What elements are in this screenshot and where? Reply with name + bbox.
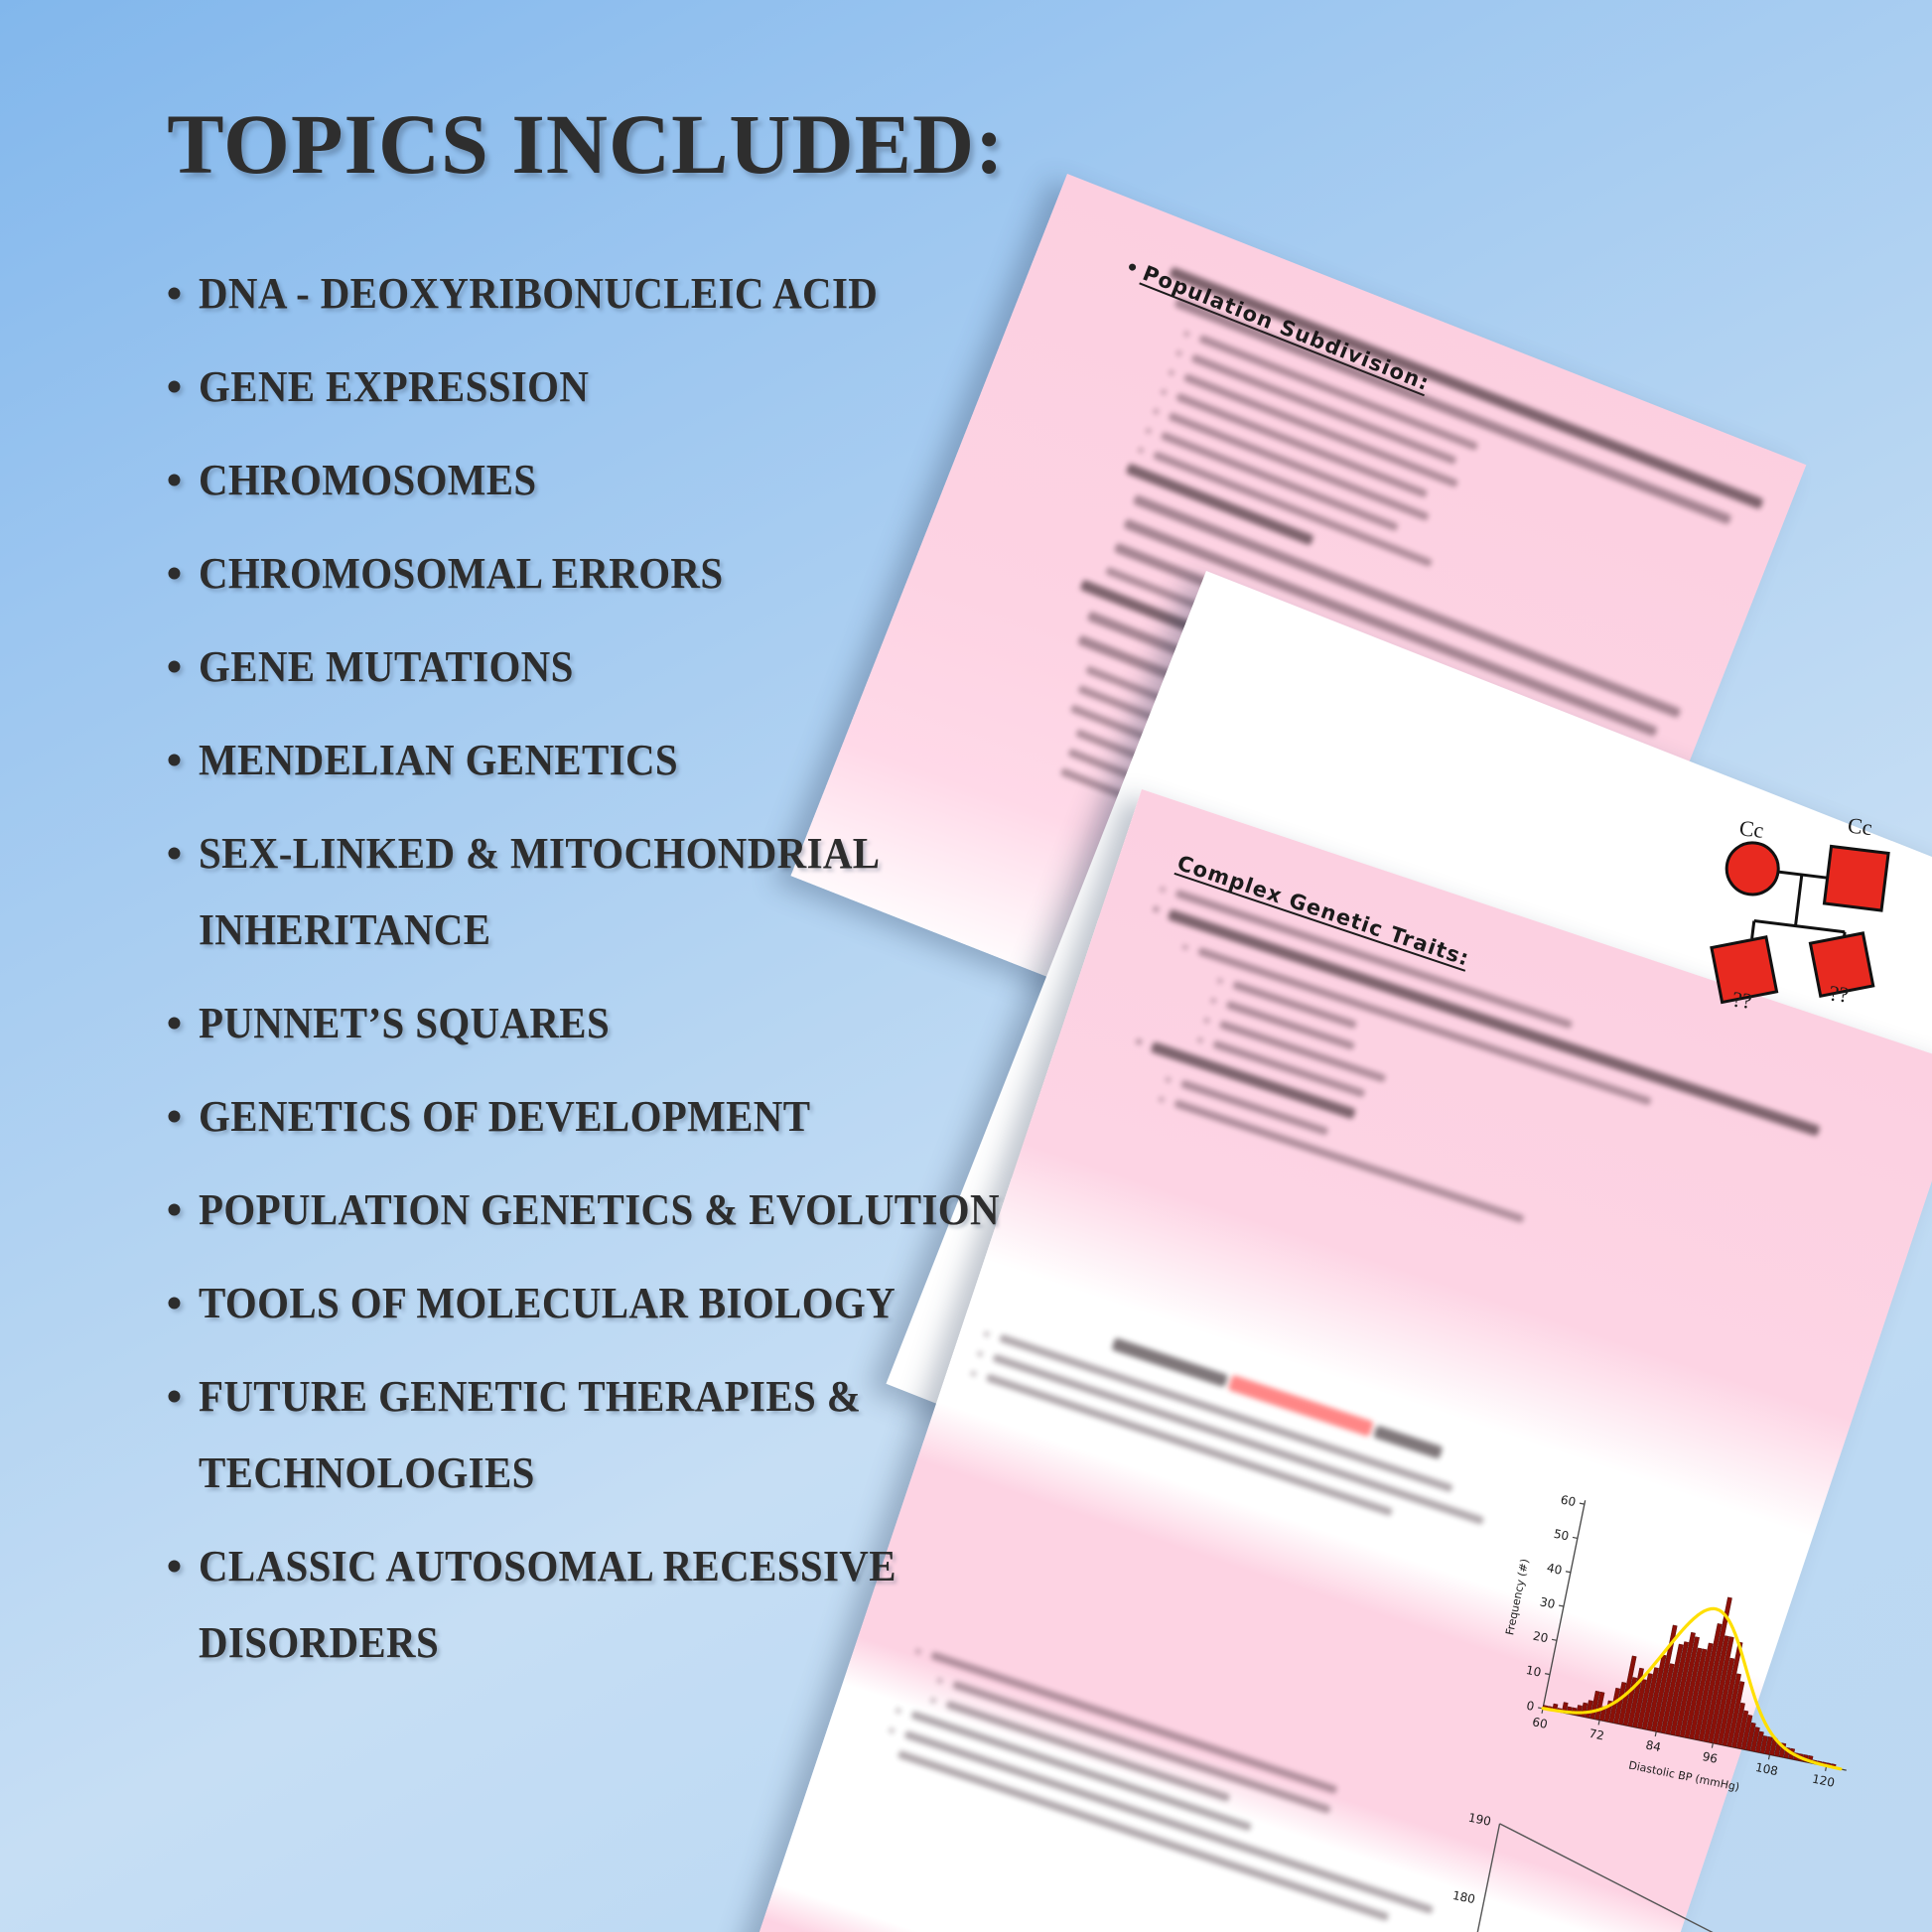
topic-label: CLASSIC AUTOSOMAL RECESSIVE DISORDERS	[199, 1542, 897, 1667]
bullet-icon: •	[167, 1172, 183, 1248]
histogram-ytick: 60	[1560, 1492, 1578, 1509]
topic-label: CHROMOSOMES	[199, 456, 537, 504]
topic-item: •GENE MUTATIONS	[199, 628, 1038, 705]
pedigree-diagram: Cc Cc ?? ??	[1696, 795, 1932, 1037]
histogram-ylabel: Frequency (#)	[1503, 1558, 1531, 1636]
topic-item: •CHROMOSOMAL ERRORS	[199, 535, 1038, 612]
pedigree-label-child-one: ??	[1730, 987, 1753, 1015]
topic-label: TOOLS OF MOLECULAR BIOLOGY	[199, 1279, 896, 1327]
histogram-ytick: 40	[1546, 1561, 1564, 1578]
topic-item: •PUNNET’S SQUARES	[199, 985, 1038, 1061]
topic-label: DNA - DEOXYRIBONUCLEIC ACID	[199, 269, 878, 318]
histogram-xtick: 72	[1587, 1726, 1605, 1743]
histogram-ytick: 50	[1553, 1527, 1571, 1544]
topic-label: POPULATION GENETICS & EVOLUTION	[199, 1185, 1000, 1234]
histogram-xtick: 108	[1754, 1760, 1779, 1778]
bullet-icon: •	[167, 628, 183, 705]
histogram-xtick: 120	[1811, 1772, 1836, 1790]
bullet-icon: •	[167, 442, 183, 518]
bullet-icon: •	[167, 1265, 183, 1341]
chart-bottom-ytick-180: 180	[1451, 1888, 1476, 1906]
topic-item: •CLASSIC AUTOSOMAL RECESSIVE DISORDERS	[199, 1528, 1038, 1681]
bullet-icon: •	[167, 815, 183, 892]
pedigree-label-mother: Cc	[1738, 815, 1765, 844]
histogram-xtick: 60	[1531, 1715, 1549, 1731]
histogram-ytick: 20	[1532, 1629, 1550, 1646]
topic-label: MENDELIAN GENETICS	[199, 736, 678, 784]
topic-item: •TOOLS OF MOLECULAR BIOLOGY	[199, 1265, 1038, 1341]
topic-label: GENE EXPRESSION	[199, 362, 589, 411]
pedigree-label-child-two: ??	[1828, 980, 1851, 1008]
topics-list: •DNA - DEOXYRIBONUCLEIC ACID•GENE EXPRES…	[0, 255, 1142, 1681]
pedigree-father-symbol	[1824, 846, 1888, 910]
page-title: TOPICS INCLUDED:	[0, 94, 1142, 194]
topic-item: •CHROMOSOMES	[199, 442, 1038, 518]
pedigree-mother-symbol	[1724, 840, 1781, 897]
topic-item: •GENE EXPRESSION	[199, 348, 1038, 425]
bullet-icon: •	[167, 722, 183, 798]
bullet-icon: •	[167, 535, 183, 612]
histogram-xtick: 84	[1644, 1737, 1662, 1754]
bullet-icon: •	[167, 1078, 183, 1155]
topic-label: SEX-LINKED & MITOCHONDRIAL INHERITANCE	[199, 829, 878, 954]
histogram-ytick: 0	[1525, 1699, 1535, 1714]
topic-label: FUTURE GENETIC THERAPIES & TECHNOLOGIES	[199, 1372, 861, 1497]
topic-item: •FUTURE GENETIC THERAPIES & TECHNOLOGIES	[199, 1358, 1038, 1511]
topic-item: •GENETICS OF DEVELOPMENT	[199, 1078, 1038, 1155]
histogram-ytick: 10	[1525, 1663, 1543, 1680]
bullet-icon: •	[167, 1528, 183, 1604]
histogram-xtick: 96	[1701, 1749, 1719, 1766]
slide-canvas: Population Subdivision:	[0, 0, 1932, 1932]
topic-label: PUNNET’S SQUARES	[199, 999, 610, 1047]
bullet-icon: •	[167, 348, 183, 425]
topic-label: CHROMOSOMAL ERRORS	[199, 549, 723, 598]
topic-label: GENETICS OF DEVELOPMENT	[199, 1092, 810, 1141]
topic-item: •POPULATION GENETICS & EVOLUTION	[199, 1172, 1038, 1248]
histogram-ytick: 30	[1539, 1594, 1557, 1611]
slide-content: TOPICS INCLUDED: •DNA - DEOXYRIBONUCLEIC…	[0, 0, 1142, 1932]
topic-label: GENE MUTATIONS	[199, 642, 574, 691]
topic-item: •DNA - DEOXYRIBONUCLEIC ACID	[199, 255, 1038, 332]
bullet-icon: •	[167, 985, 183, 1061]
chart-bottom-ytick-190: 190	[1467, 1811, 1492, 1829]
topic-item: •SEX-LINKED & MITOCHONDRIAL INHERITANCE	[199, 815, 1038, 968]
bullet-icon: •	[167, 1358, 183, 1435]
bullet-icon: •	[167, 255, 183, 332]
histogram-xlabel: Diastolic BP (mmHg)	[1627, 1758, 1740, 1793]
topic-item: •MENDELIAN GENETICS	[199, 722, 1038, 798]
pedigree-label-father: Cc	[1847, 812, 1873, 841]
